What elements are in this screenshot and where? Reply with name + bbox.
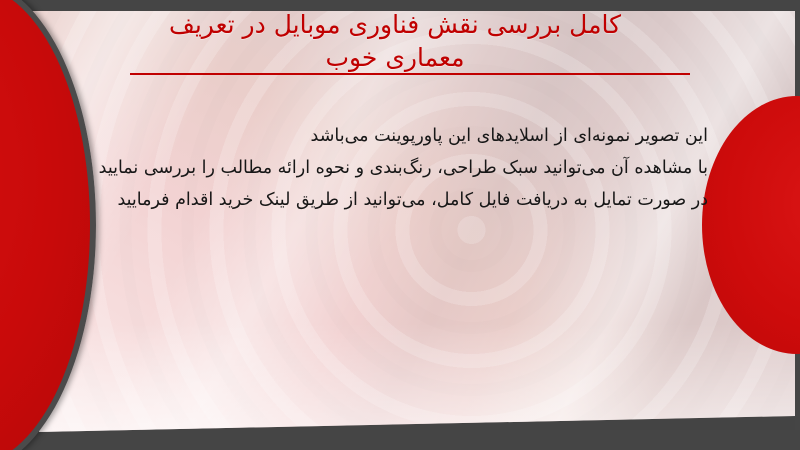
frame-band-bottom <box>0 430 800 450</box>
slide-title-line-2: معماری خوب <box>102 41 688 74</box>
body-line-2: با مشاهده آن می‌توانید سبک طراحی، رنگ‌بن… <box>98 152 708 184</box>
presentation-slide: کامل بررسی نقش فناوری موبایل در تعریف مع… <box>0 0 800 450</box>
slide-title: کامل بررسی نقش فناوری موبایل در تعریف مع… <box>102 8 688 74</box>
slide-title-line-1: کامل بررسی نقش فناوری موبایل در تعریف <box>102 8 688 41</box>
slide-body-text: این تصویر نمونه‌ای از اسلایدهای این پاور… <box>98 120 708 216</box>
title-underline-rule <box>130 73 690 75</box>
body-line-1: این تصویر نمونه‌ای از اسلایدهای این پاور… <box>98 120 708 152</box>
body-line-3: در صورت تمایل به دریافت فایل کامل، می‌تو… <box>98 184 708 216</box>
